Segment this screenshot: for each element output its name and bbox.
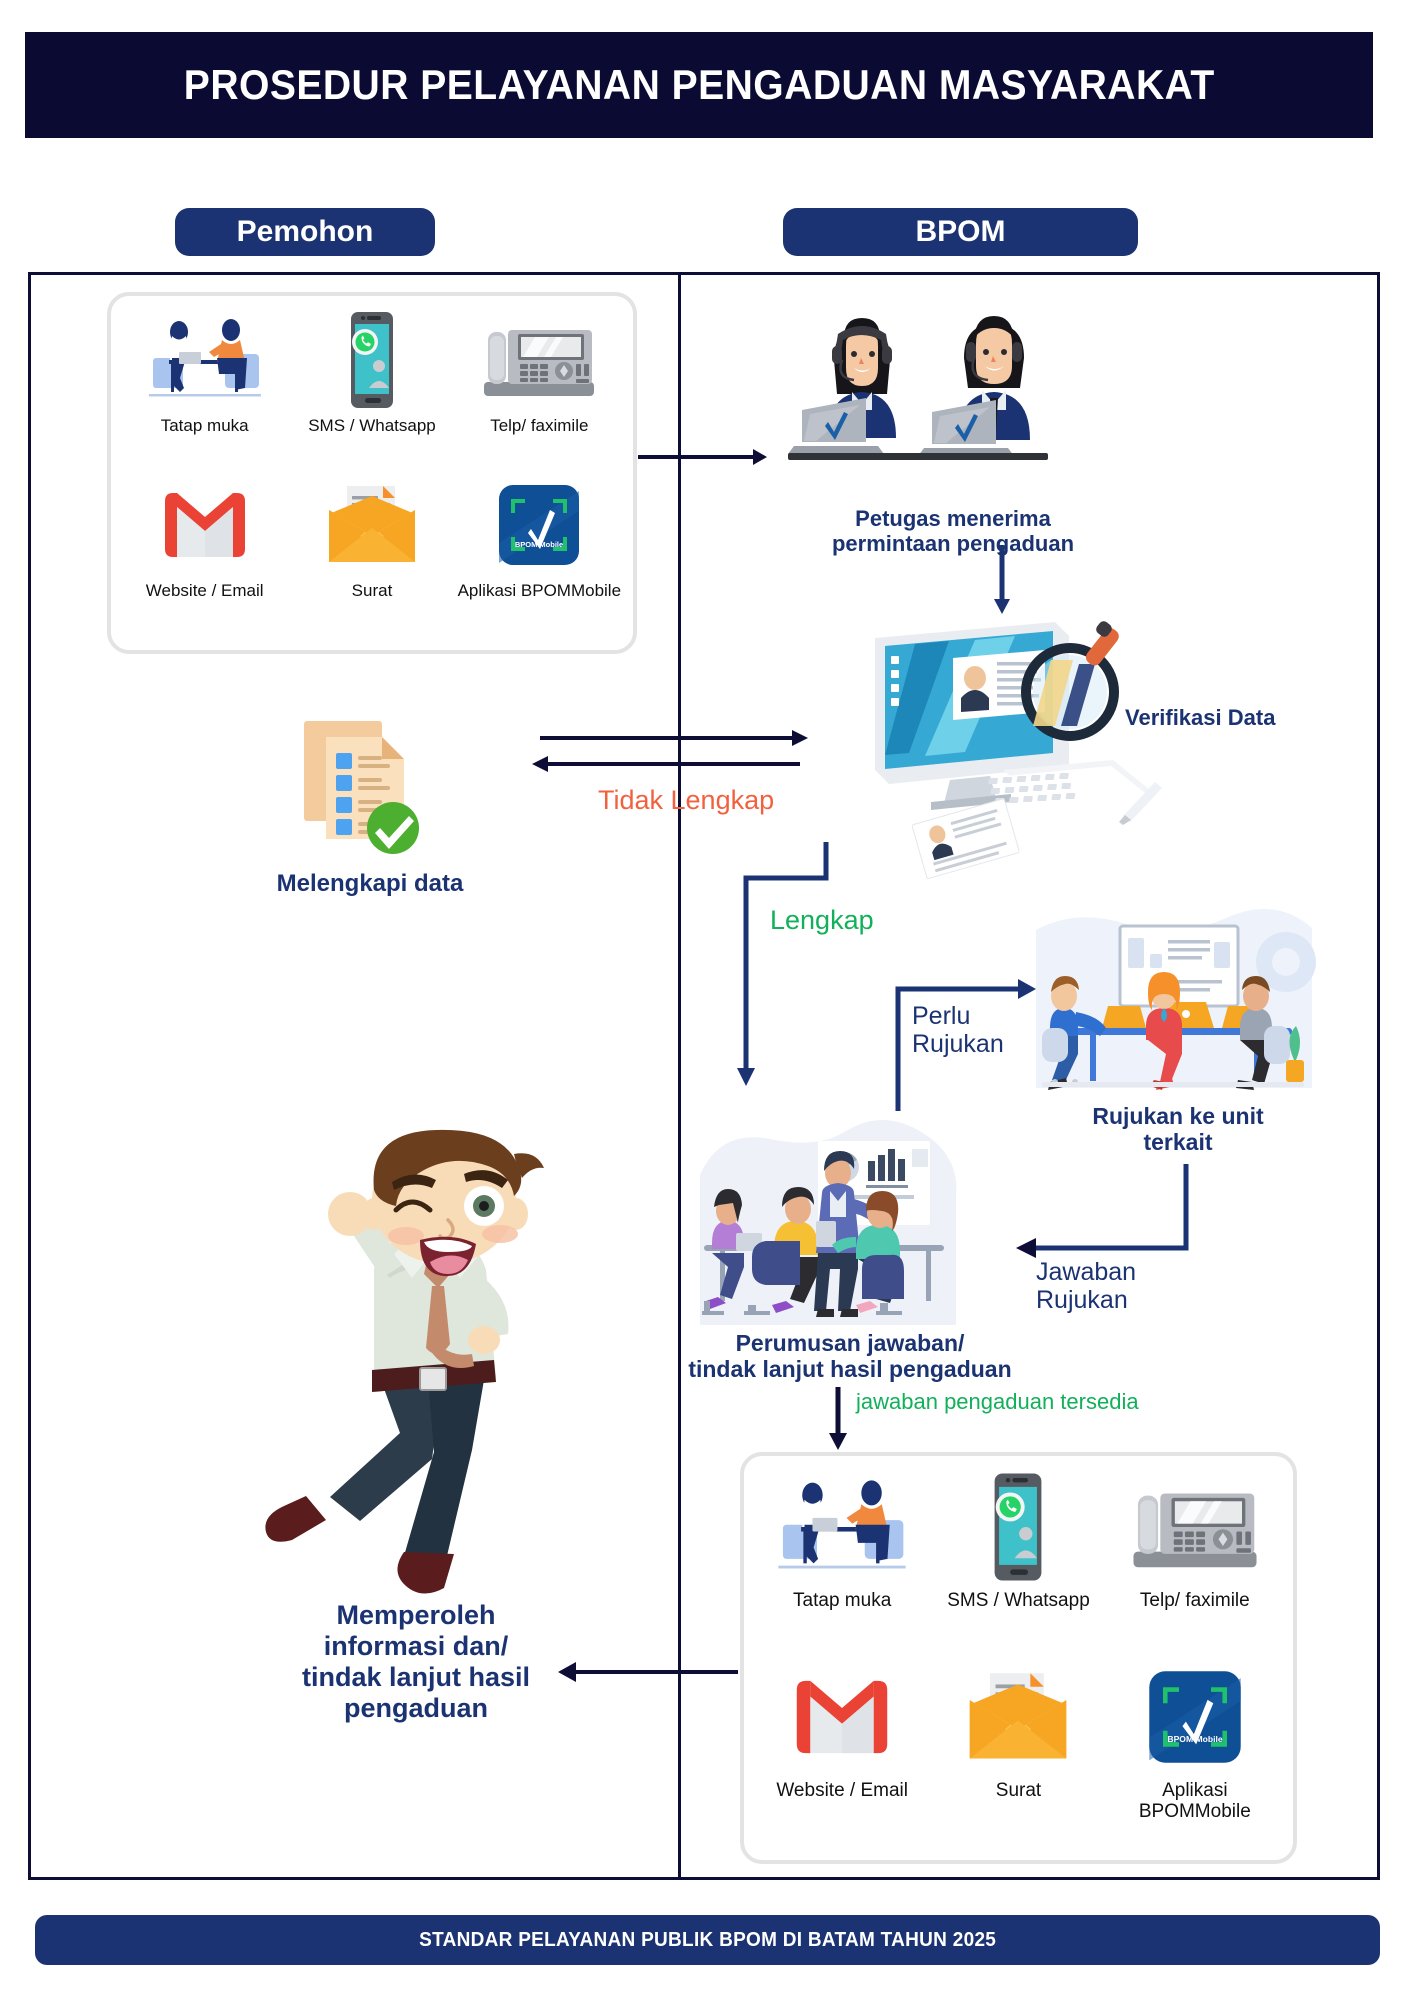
channel-item: Website / Email: [121, 473, 288, 638]
referral-unit-caption-line2: terkait: [1040, 1129, 1316, 1155]
arrow-lengkap-down: [726, 838, 836, 1098]
flow-label-answer-available: jawaban pengaduan tersedia: [856, 1390, 1139, 1415]
channel-item: Surat: [930, 1658, 1106, 1848]
officers-caption-line2: permintaan pengaduan: [788, 531, 1118, 556]
flow-label-need-referral-line1: Perlu: [912, 1002, 1004, 1030]
flow-label-need-referral-line2: Rujukan: [912, 1030, 1004, 1058]
bpom-mobile-badge-text: BPOM Mobile: [1167, 1734, 1222, 1744]
title-bar: PROSEDUR PELAYANAN PENGADUAN MASYARAKAT: [25, 32, 1373, 138]
referral-unit-caption-line1: Rujukan ke unit: [1040, 1103, 1316, 1129]
formulation-illustration: [690, 1125, 1010, 1340]
formulation-caption-line2: tindak lanjut hasil pengaduan: [660, 1356, 1040, 1382]
result-caption-line2: informasi dan/: [206, 1631, 626, 1662]
flow-label-referral-answer-line1: Jawaban: [1036, 1258, 1136, 1286]
flow-label-complete: Lengkap: [770, 905, 874, 935]
channel-label: SMS / Whatsapp: [947, 1590, 1090, 1611]
letter-envelope-icon: [325, 473, 419, 577]
gmail-icon: [790, 1658, 894, 1776]
arrow-officers-to-verification: [990, 545, 1014, 615]
channel-item: Tatap muka: [754, 1468, 930, 1658]
channel-item: Tatap muka: [121, 308, 288, 473]
response-channel-box: Tatap muka SMS / Whatsapp: [740, 1452, 1297, 1864]
channel-label: Tatap muka: [793, 1590, 891, 1611]
verification-caption: Verifikasi Data: [1125, 705, 1325, 730]
officers-caption-line1: Petugas menerima: [788, 506, 1118, 531]
channel-item: Surat: [288, 473, 455, 638]
channel-label: Surat: [352, 581, 393, 600]
column-header-bpom-label: BPOM: [916, 215, 1006, 249]
channel-label: Website / Email: [146, 581, 264, 600]
channel-item: SMS / Whatsapp: [288, 308, 455, 473]
flow-label-referral-answer-line2: Rujukan: [1036, 1286, 1136, 1314]
bpom-mobile-badge-text: BPOM Mobile: [515, 540, 563, 549]
whatsapp-phone-icon: [979, 1468, 1057, 1586]
arrow-response-to-applicant: [558, 1660, 738, 1684]
gmail-icon: [159, 473, 251, 577]
complete-data-caption: Melengkapi data: [255, 870, 485, 897]
channel-label: Telp/ faximile: [490, 416, 588, 435]
officers-caption: Petugas menerima permintaan pengaduan: [788, 506, 1118, 556]
channel-label: Aplikasi BPOMMobile: [1107, 1780, 1283, 1823]
formulation-caption: Perumusan jawaban/ tindak lanjut hasil p…: [660, 1330, 1040, 1382]
channel-item: SMS / Whatsapp: [930, 1468, 1106, 1658]
face-to-face-icon: [139, 308, 271, 412]
channel-item: BPOM Mobile Aplikasi BPOMMobile: [1107, 1658, 1283, 1848]
column-header-pemohon: Pemohon: [175, 208, 435, 256]
channel-label: Tatap muka: [161, 416, 249, 435]
column-divider: [678, 272, 681, 1880]
applicant-channel-box: Tatap muka SMS / Whatsapp: [107, 292, 637, 654]
channel-label: Aplikasi BPOMMobile: [458, 581, 621, 600]
bpom-mobile-app-icon: BPOM Mobile: [497, 473, 581, 577]
officers-illustration: [788, 298, 1118, 488]
bpom-mobile-app-icon: BPOM Mobile: [1147, 1658, 1243, 1776]
footer-text: STANDAR PELAYANAN PUBLIK BPOM DI BATAM T…: [419, 1929, 996, 1952]
flow-label-incomplete: Tidak Lengkap: [598, 785, 774, 815]
flow-label-need-referral: Perlu Rujukan: [912, 1002, 1004, 1058]
channel-label: Telp/ faximile: [1140, 1590, 1250, 1611]
channel-label: SMS / Whatsapp: [308, 416, 436, 435]
face-to-face-icon: [767, 1468, 917, 1586]
footer-bar: STANDAR PELAYANAN PUBLIK BPOM DI BATAM T…: [35, 1915, 1380, 1965]
whatsapp-phone-icon: [337, 308, 407, 412]
column-header-pemohon-label: Pemohon: [237, 215, 374, 249]
page-title: PROSEDUR PELAYANAN PENGADUAN MASYARAKAT: [184, 61, 1215, 109]
channel-item: Telp/ faximile: [456, 308, 623, 473]
arrow-answer-available: [825, 1387, 851, 1451]
formulation-caption-line1: Perumusan jawaban/: [660, 1330, 1040, 1356]
verification-illustration: [855, 620, 1175, 870]
desk-phone-icon: [1129, 1468, 1261, 1586]
referral-unit-illustration: [1028, 910, 1318, 1100]
channel-label: Website / Email: [776, 1780, 908, 1801]
letter-envelope-icon: [965, 1658, 1071, 1776]
channel-item: Website / Email: [754, 1658, 930, 1848]
desk-phone-icon: [480, 308, 598, 412]
result-caption-line4: pengaduan: [206, 1693, 626, 1724]
channel-item: BPOM Mobile Aplikasi BPOMMobile: [456, 473, 623, 638]
complete-data-illustration: [298, 715, 428, 865]
channel-item: Telp/ faximile: [1107, 1468, 1283, 1658]
referral-unit-caption: Rujukan ke unit terkait: [1040, 1103, 1316, 1155]
arrow-channels-to-officers: [638, 445, 768, 469]
channel-label: Surat: [996, 1780, 1041, 1801]
arrow-pair-verification: [530, 728, 810, 776]
result-caption-line1: Memperoleh: [206, 1600, 626, 1631]
column-header-bpom: BPOM: [783, 208, 1138, 256]
flow-label-referral-answer: Jawaban Rujukan: [1036, 1258, 1136, 1314]
happy-applicant-illustration: [232, 1128, 582, 1613]
